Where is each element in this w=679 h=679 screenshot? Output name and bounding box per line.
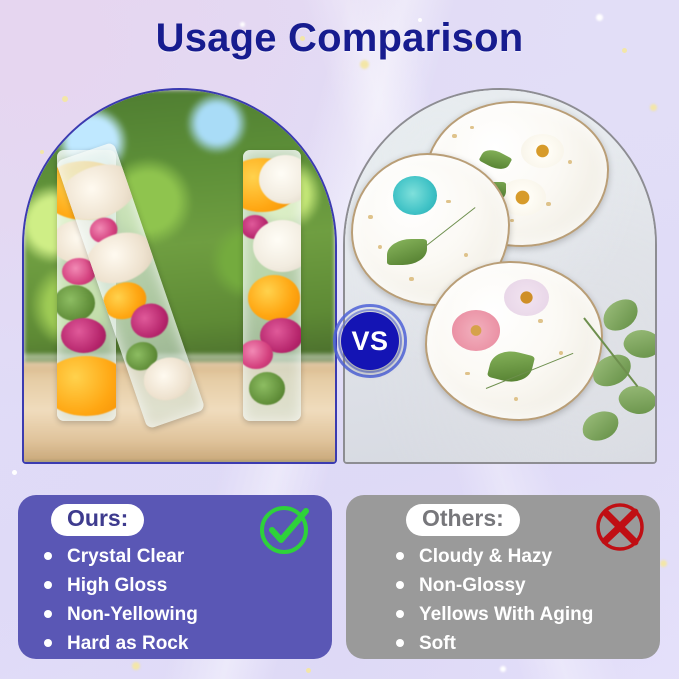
comparison-infographic: Usage Comparison	[0, 0, 679, 679]
vs-label: VS	[351, 326, 388, 357]
ours-panel: Ours: Crystal Clear High Gloss Non-Yello…	[18, 495, 332, 659]
others-product-photo	[343, 88, 658, 464]
bullet-dot	[396, 581, 404, 589]
eucalyptus-sprig	[537, 291, 655, 455]
bullet-dot	[44, 552, 52, 560]
list-item: Non-Glossy	[396, 572, 593, 598]
ours-heading: Ours:	[51, 504, 144, 536]
ours-product-photo	[22, 88, 337, 464]
ours-feature-list: Crystal Clear High Gloss Non-Yellowing H…	[44, 543, 198, 659]
bullet-dot	[396, 552, 404, 560]
list-item-label: High Gloss	[67, 576, 167, 595]
bullet-dot	[44, 610, 52, 618]
letter-stem-right	[243, 150, 302, 421]
list-item-label: Crystal Clear	[67, 547, 184, 566]
vs-circle: VS	[341, 312, 399, 370]
list-item-label: Cloudy & Hazy	[419, 547, 552, 566]
list-item-label: Non-Yellowing	[67, 605, 198, 624]
check-circle-icon	[254, 499, 314, 559]
bullet-dot	[396, 610, 404, 618]
list-item-label: Hard as Rock	[67, 634, 188, 653]
page-title: Usage Comparison	[0, 16, 679, 61]
bullet-dot	[44, 581, 52, 589]
resin-letter-n	[52, 138, 307, 421]
list-item: Cloudy & Hazy	[396, 543, 593, 569]
list-item: Hard as Rock	[44, 630, 198, 656]
list-item-label: Non-Glossy	[419, 576, 526, 595]
bullet-dot	[396, 639, 404, 647]
list-item-label: Soft	[419, 634, 456, 653]
photo-comparison-row	[22, 88, 657, 460]
others-heading: Others:	[406, 504, 520, 536]
feature-panels: Ours: Crystal Clear High Gloss Non-Yello…	[18, 495, 661, 659]
list-item: High Gloss	[44, 572, 198, 598]
x-circle-icon	[590, 497, 650, 557]
list-item: Crystal Clear	[44, 543, 198, 569]
vs-badge: VS	[333, 304, 407, 378]
list-item: Non-Yellowing	[44, 601, 198, 627]
others-panel: Others: Cloudy & Hazy Non-Glossy Yellows…	[346, 495, 660, 659]
list-item-label: Yellows With Aging	[419, 605, 593, 624]
list-item: Soft	[396, 630, 593, 656]
bullet-dot	[44, 639, 52, 647]
list-item: Yellows With Aging	[396, 601, 593, 627]
others-feature-list: Cloudy & Hazy Non-Glossy Yellows With Ag…	[396, 543, 593, 659]
